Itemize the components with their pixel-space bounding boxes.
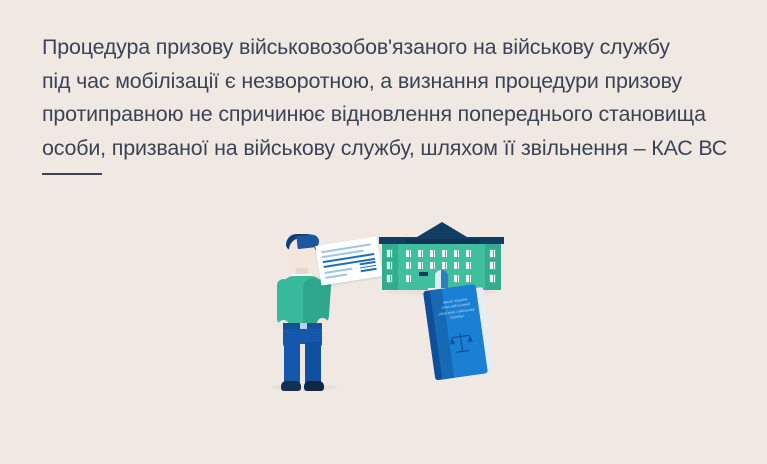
building-plaque (419, 272, 428, 276)
building-window (453, 274, 460, 283)
building-window (465, 261, 472, 270)
building-window (429, 249, 436, 258)
building-window (405, 261, 412, 270)
building-window (441, 261, 448, 270)
building-window (417, 249, 424, 258)
building-window (386, 261, 393, 270)
building-window (429, 261, 436, 270)
person-leg-gap (300, 344, 305, 386)
military-summons-document (315, 236, 382, 285)
headline-block: Процедура призову військовозобов'язаного… (42, 31, 742, 165)
building-window (405, 249, 412, 258)
summons-signature-block (360, 261, 378, 274)
summons-text-line (325, 273, 347, 278)
building-window (453, 261, 460, 270)
building-window (465, 249, 472, 258)
building-pediment (412, 222, 472, 240)
person-ear (286, 253, 291, 260)
building-window (417, 261, 424, 270)
person-left-leg (284, 342, 300, 386)
person-left-arm (277, 279, 290, 325)
page-title: Процедура призову військовозобов'язаного… (42, 31, 742, 165)
headline-underline-rule (42, 173, 102, 175)
building-cornice (405, 239, 479, 244)
building-window (405, 274, 412, 283)
person-right-shoe (304, 381, 324, 391)
building-window (465, 274, 472, 283)
building-window (489, 249, 496, 258)
building-window (441, 249, 448, 258)
person-left-shoe (281, 381, 301, 391)
person-right-leg (305, 342, 321, 386)
building-window (453, 249, 460, 258)
scales-of-justice-icon (447, 329, 476, 358)
building-window (386, 249, 393, 258)
conscription-illustration: Закон України «Про військовий обов'язок … (0, 196, 767, 464)
building-window (386, 274, 393, 283)
person-belt-buckle (300, 323, 307, 329)
illustration-card: Процедура призову військовозобов'язаного… (0, 0, 767, 464)
law-book: Закон України «Про військовий обов'язок … (419, 281, 509, 383)
summons-text-line (324, 268, 352, 274)
building-window (489, 261, 496, 270)
